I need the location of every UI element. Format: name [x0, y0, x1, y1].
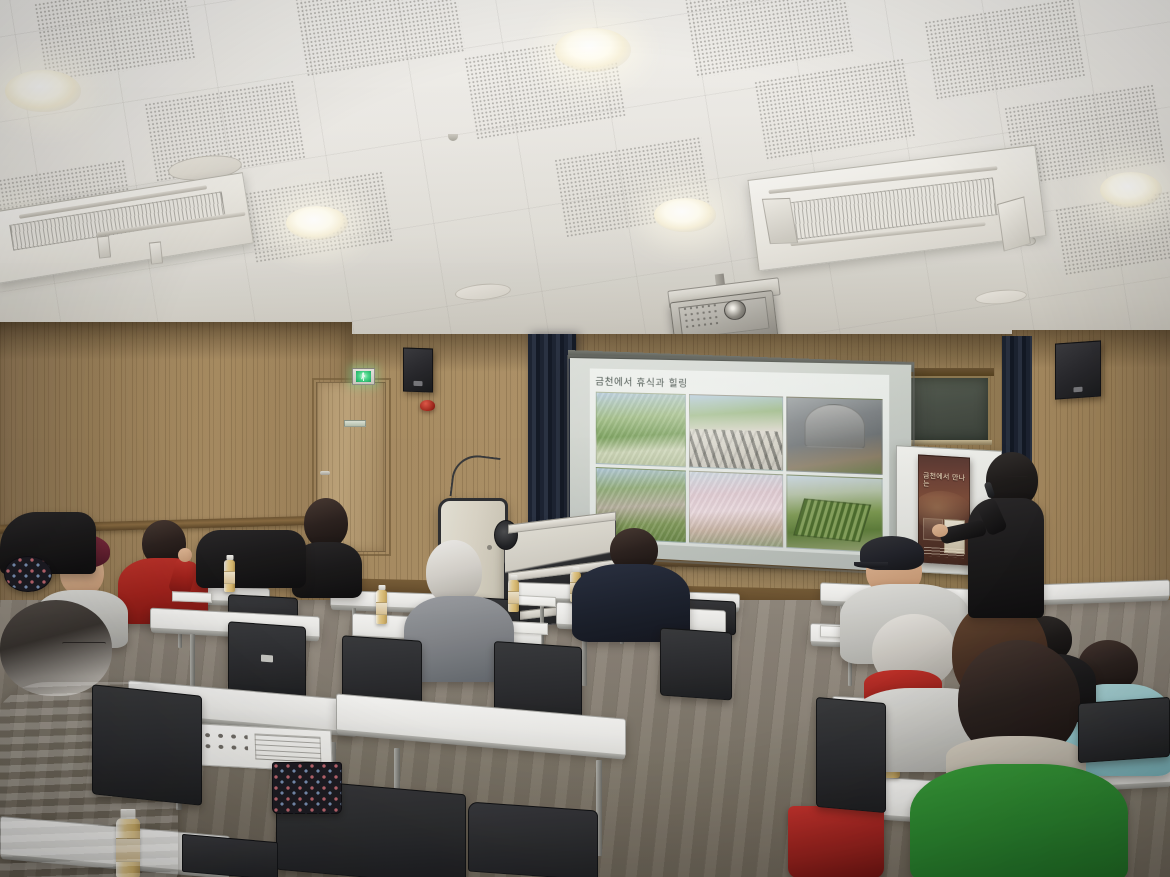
chair-label-tag	[261, 655, 273, 663]
water-bottle[interactable]	[376, 590, 387, 624]
ac-deflector-vane	[97, 235, 111, 258]
ceiling-downlight	[555, 28, 631, 72]
torso	[968, 498, 1044, 618]
bottle-label	[224, 571, 235, 584]
red-bag-on-floor	[788, 806, 884, 877]
water-bottle[interactable]	[224, 560, 235, 592]
cap-brim	[854, 562, 888, 568]
draped-jacket	[196, 530, 306, 588]
paper-on-row2-mid	[508, 621, 548, 635]
presenter-hand	[932, 524, 948, 537]
ceiling-downlight	[1100, 172, 1162, 208]
bottle-cap	[378, 585, 385, 590]
paper-on-row3-mid	[518, 595, 556, 607]
door-sign-plate	[344, 420, 366, 427]
chalkboard-tray	[903, 440, 992, 445]
exit-sign	[352, 368, 375, 385]
chair-front-left[interactable]	[92, 684, 202, 806]
projector-keypad	[683, 303, 719, 329]
bottle-label	[376, 602, 387, 616]
ceiling-downlight	[654, 198, 716, 232]
chair-right-mid[interactable]	[1078, 697, 1170, 763]
ac-deflector-vane	[149, 241, 163, 264]
running-man-icon	[361, 372, 366, 381]
hand	[178, 548, 192, 562]
chair-row2-d[interactable]	[660, 627, 732, 700]
eyeglasses-icon	[62, 642, 106, 646]
circular-object-left	[4, 556, 52, 592]
chair-right-front[interactable]	[816, 697, 886, 813]
ceiling	[0, 0, 1170, 360]
wall-top-shadow	[0, 322, 352, 360]
head	[426, 540, 482, 604]
exit-sign-icon	[356, 371, 371, 382]
laptop-on-front-table[interactable]	[182, 834, 278, 877]
wall-speaker-left	[403, 347, 433, 392]
navy-bag-under-table	[272, 762, 342, 814]
ceiling-downlight	[286, 206, 348, 240]
handout-text-lines	[254, 733, 321, 763]
wall-chalkboard	[905, 376, 990, 442]
chalkboard-header-trim	[901, 368, 994, 376]
eyeglasses-icon	[996, 476, 1028, 480]
lecture-room-photo: 금천에서 휴식과 힐링 금천에서 만나는	[0, 0, 1170, 877]
door-handle[interactable]	[320, 471, 330, 475]
dark-object-front	[468, 801, 598, 877]
wall-speaker-right	[1055, 340, 1101, 399]
head	[304, 498, 348, 548]
ceiling-downlight	[5, 70, 81, 112]
fire-alarm-bell	[420, 400, 435, 411]
speaker-logo	[414, 381, 423, 386]
person-attendee-suit	[572, 528, 690, 638]
bottle-cap	[226, 555, 233, 560]
jacket-on-chair-back-left	[196, 520, 306, 590]
torso	[910, 764, 1128, 877]
speaker-logo	[1074, 387, 1083, 393]
